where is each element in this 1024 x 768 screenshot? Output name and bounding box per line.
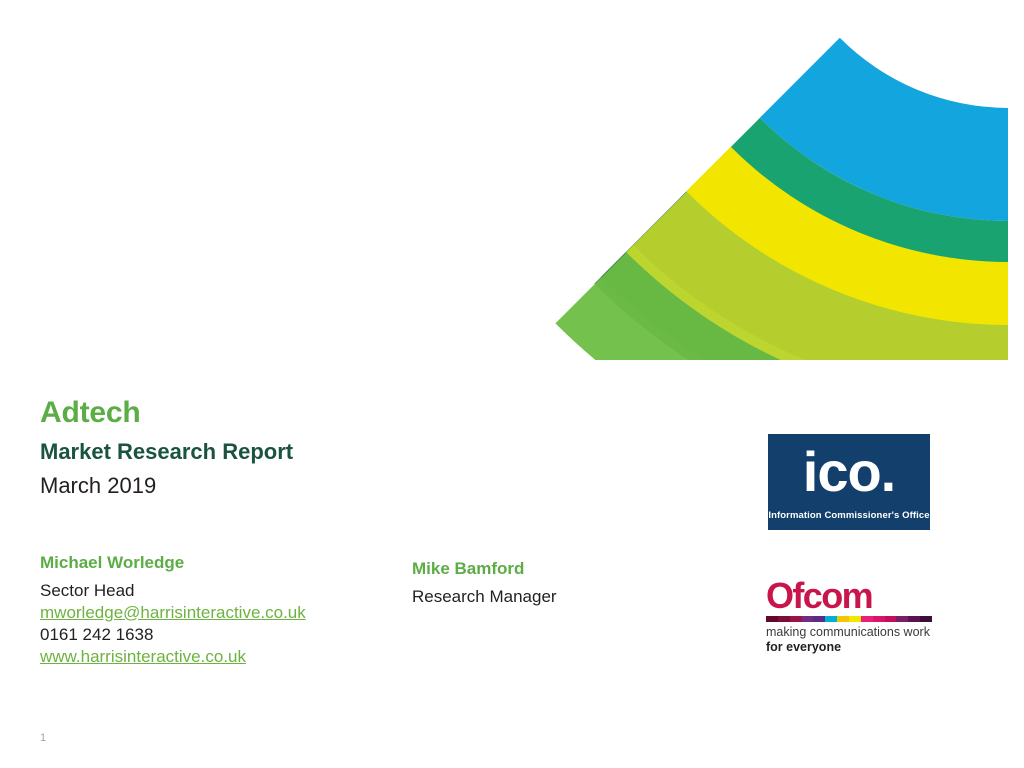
ofcom-bar-segment-13 [920,616,932,622]
ofcom-bar-segment-3 [802,616,814,622]
ofcom-bar-segment-11 [896,616,908,622]
ofcom-bar-segment-10 [885,616,897,622]
ofcom-wordmark: Ofcom [766,578,932,614]
contact-primary-name: Michael Worledge [40,553,400,573]
ofcom-bar-segment-9 [873,616,885,622]
page-subtitle: Market Research Report [40,440,560,465]
arc-cyan-blue-band [760,38,1008,221]
ico-tagline: Information Commissioner's Office [768,510,929,521]
ico-wordmark: ico. [803,440,895,504]
title-block: Adtech Market Research Report March 2019 [40,396,560,499]
ofcom-bar-segment-6 [837,616,849,622]
ofcom-bar-segment-5 [825,616,837,622]
contact-primary-website-link[interactable]: www.harrisinteractive.co.uk [40,646,400,668]
ofcom-bar-segment-0 [766,616,778,622]
arc-cyan-blue [760,0,1008,221]
ofcom-bar-segment-2 [790,616,802,622]
ofcom-bar-segment-12 [908,616,920,622]
contact-secondary-name: Mike Bamford [412,559,712,579]
arc-sea-green-band [680,118,1008,334]
contact-secondary: Mike Bamford Research Manager [412,559,712,608]
ofcom-tagline-line2: for everyone [766,640,932,655]
ofcom-logo: Ofcom making communications work for eve… [766,578,932,646]
contact-primary-phone: 0161 242 1638 [40,624,400,646]
page-title: Adtech [40,396,560,430]
contact-primary: Michael Worledge Sector Head mworledge@h… [40,553,400,668]
contact-primary-email-link[interactable]: mworledge@harrisinteractive.co.uk [40,602,400,624]
ofcom-bar-segment-7 [849,616,861,622]
contacts-block: Michael Worledge Sector Head mworledge@h… [0,553,760,693]
page-date: March 2019 [40,474,560,499]
arc-yellow-band [686,147,1008,325]
ofcom-bar-segment-4 [813,616,825,622]
ofcom-bar-segment-8 [861,616,873,622]
arc-teal-green-band [601,197,1008,446]
contact-primary-role: Sector Head [40,580,400,601]
arc-yellow-green-band [626,187,1008,410]
page-number: 1 [40,733,46,744]
ofcom-bar-segment-1 [778,616,790,622]
arc-dark-green-band [594,192,1008,455]
contact-secondary-role: Research Manager [412,586,712,607]
ico-logo: ico. Information Commissioner's Office [768,434,930,530]
ofcom-tagline-line1: making communications work [766,625,932,640]
ofcom-color-bar [766,616,932,622]
